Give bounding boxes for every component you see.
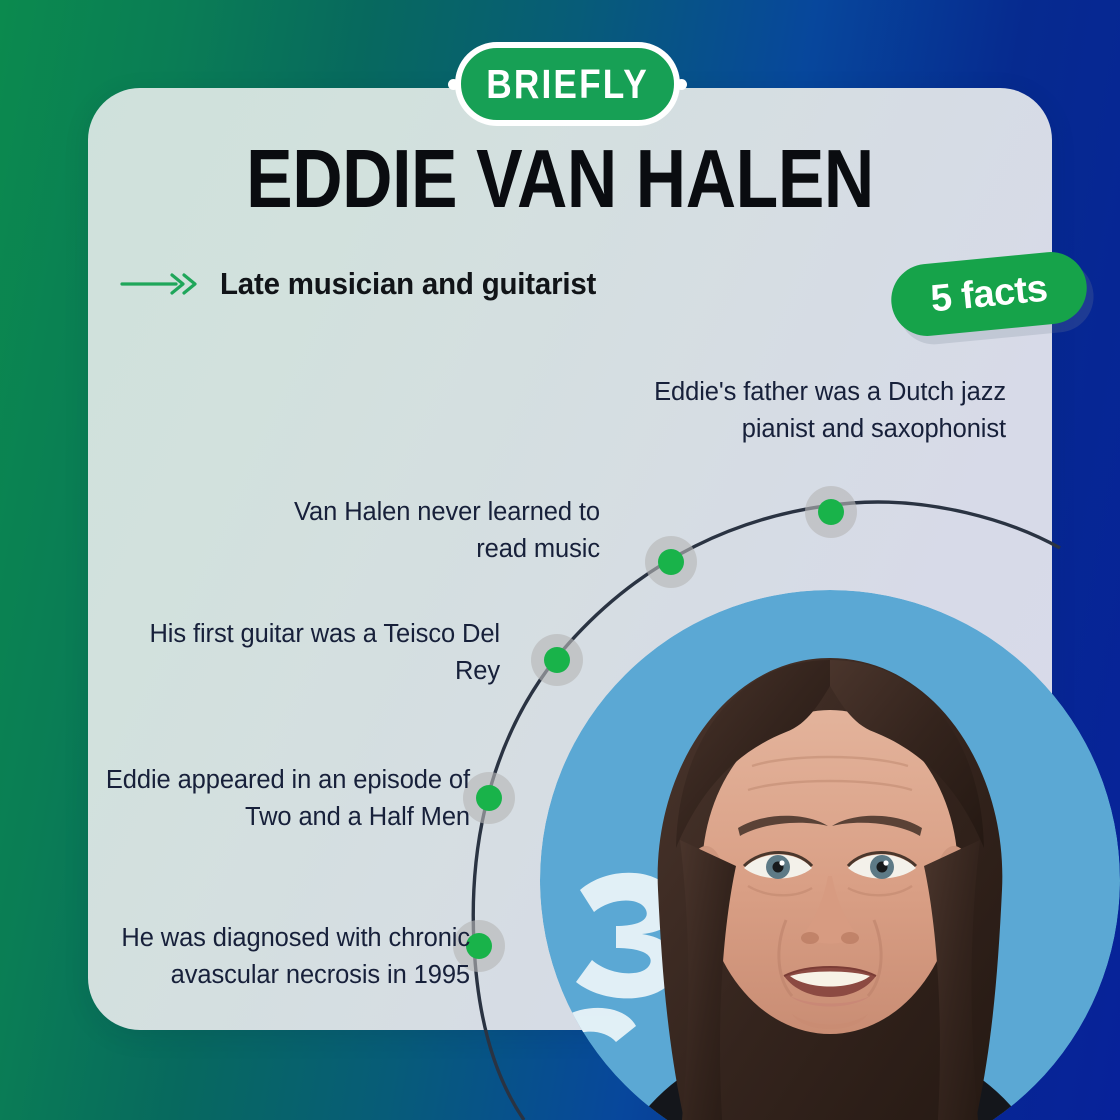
fact-text-2: Van Halen never learned to read music <box>260 494 600 568</box>
arc-marker-3[interactable] <box>531 634 583 686</box>
fact-text-3: His first guitar was a Teisco Del Rey <box>100 616 500 690</box>
arc-marker-4[interactable] <box>463 772 515 824</box>
fact-text-1: Eddie's father was a Dutch jazz pianist … <box>606 374 1006 448</box>
brand-badge[interactable]: BRIEFLY <box>455 42 680 126</box>
arrow-right-icon <box>120 271 204 297</box>
brand-dot-left <box>448 79 459 90</box>
subtitle-row: Late musician and guitarist <box>120 266 616 302</box>
infographic-poster: BRIEFLY EDDIE VAN HALEN Late musician an… <box>0 0 1120 1120</box>
brand-dot-right <box>676 79 687 90</box>
fact-text-5: He was diagnosed with chronic avascular … <box>70 920 470 994</box>
page-subtitle: Late musician and guitarist <box>220 266 596 302</box>
arc-marker-2[interactable] <box>645 536 697 588</box>
brand-name: BRIEFLY <box>486 64 649 105</box>
arc-marker-1[interactable] <box>805 486 857 538</box>
page-title: EDDIE VAN HALEN <box>90 137 1031 220</box>
fact-text-4: Eddie appeared in an episode of Two and … <box>90 762 470 836</box>
facts-count-label: 5 facts <box>929 267 1049 321</box>
